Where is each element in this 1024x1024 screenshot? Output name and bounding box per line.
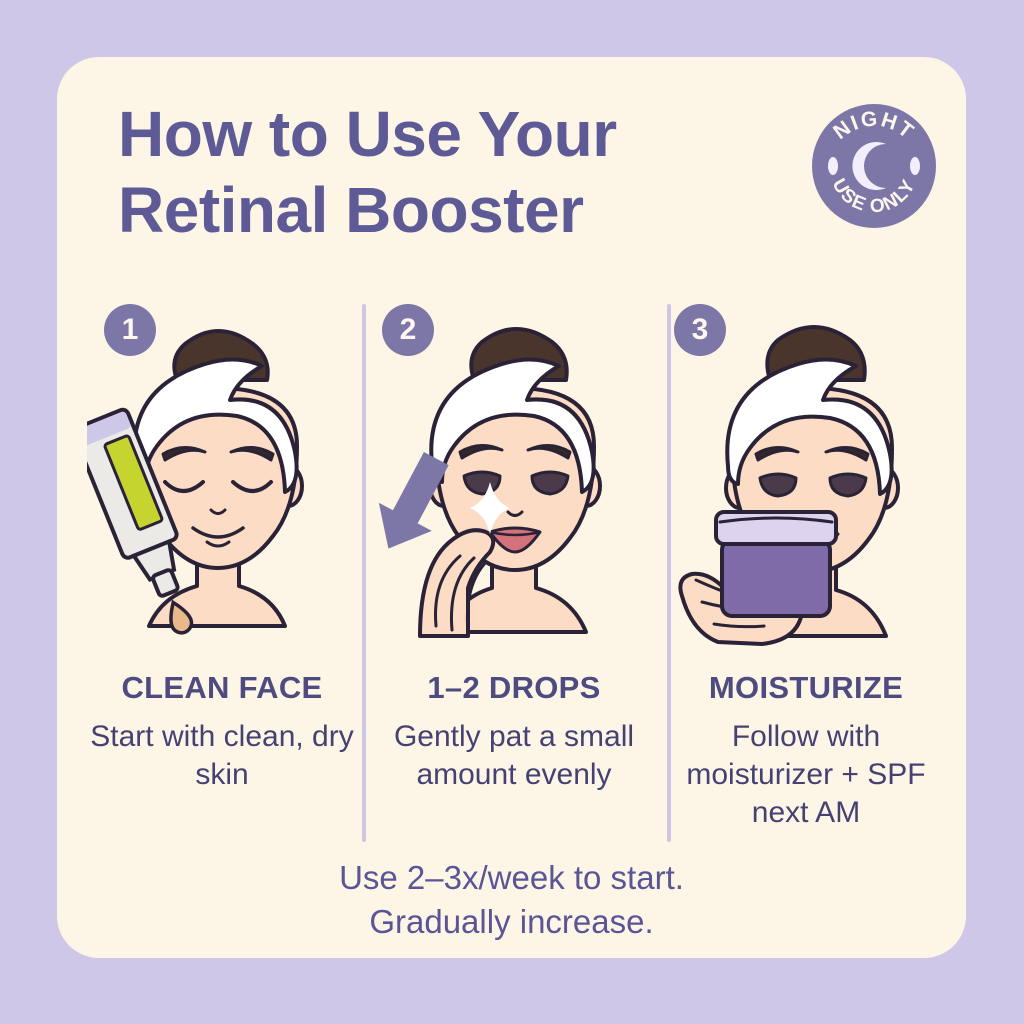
step-column-2: 2 1–2 DROPS Gently pat a small amount ev…	[368, 296, 660, 848]
night-use-only-badge: NIGHT USE ONLY	[806, 98, 942, 234]
badge-dot-right	[910, 157, 920, 175]
step-number-1: 1	[104, 304, 156, 356]
step-2-body: Gently pat a small amount evenly	[379, 718, 649, 794]
infographic-canvas: How to Use Your Retinal Booster NIGHT US…	[0, 0, 1024, 1024]
footer-line-2: Gradually increase.	[57, 900, 966, 944]
step-column-1: 1 CLEAN FACE Start with clean, dry skin	[76, 296, 368, 848]
step-1-body: Start with clean, dry skin	[87, 718, 357, 794]
title-line-1: How to Use Your	[118, 96, 778, 172]
step-1-heading: CLEAN FACE	[121, 670, 322, 706]
footer-line-1: Use 2–3x/week to start.	[57, 856, 966, 900]
step-column-3: 3 MOISTURIZE Follow with moisturizer + S…	[660, 296, 952, 848]
steps-row: 1 CLEAN FACE Start with clean, dry skin	[76, 296, 952, 848]
title-line-2: Retinal Booster	[118, 172, 778, 248]
step-3-body: Follow with moisturizer + SPF next AM	[671, 718, 941, 832]
step-2-heading: 1–2 DROPS	[427, 670, 600, 706]
page-title: How to Use Your Retinal Booster	[118, 96, 778, 248]
moisturizer-jar-icon	[716, 512, 836, 616]
step-number-2: 2	[382, 304, 434, 356]
badge-dot-left	[828, 157, 838, 175]
step-number-3: 3	[674, 304, 726, 356]
step-3-heading: MOISTURIZE	[709, 670, 903, 706]
footer-note: Use 2–3x/week to start. Gradually increa…	[57, 856, 966, 944]
